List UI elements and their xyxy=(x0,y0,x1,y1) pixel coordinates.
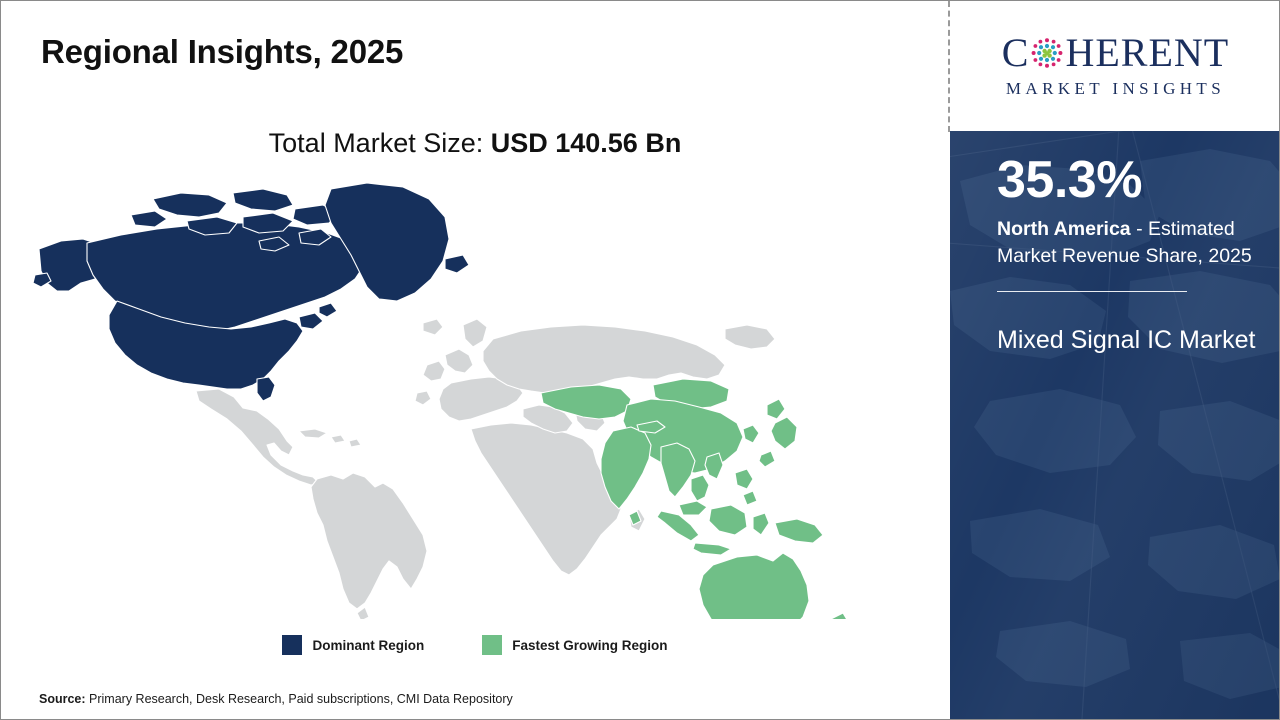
legend-swatch-fastest-growing xyxy=(482,635,502,655)
legend-item-dominant: Dominant Region xyxy=(282,635,424,655)
world-map-svg xyxy=(31,179,871,619)
total-market-size: Total Market Size: USD 140.56 Bn xyxy=(1,128,949,159)
right-sidebar: C xyxy=(950,1,1280,720)
stat-region-name: North America xyxy=(997,218,1131,240)
map-legend: Dominant Region Fastest Growing Region xyxy=(1,635,949,655)
logo-tagline: MARKET INSIGHTS xyxy=(1006,79,1225,99)
stat-panel: 35.3% North America - Estimated Market R… xyxy=(950,131,1280,720)
left-content-panel: Regional Insights, 2025 Total Market Siz… xyxy=(1,1,949,720)
map-region-dominant xyxy=(33,183,469,401)
logo-brand-pre: C xyxy=(1002,33,1030,73)
legend-label-dominant: Dominant Region xyxy=(312,638,424,653)
legend-swatch-dominant xyxy=(282,635,302,655)
source-text: Primary Research, Desk Research, Paid su… xyxy=(89,692,513,706)
stat-percent-value: 35.3% xyxy=(997,153,1265,208)
logo-wordmark: C xyxy=(1002,33,1229,73)
market-size-label: Total Market Size: xyxy=(269,128,491,158)
market-name: Mixed Signal IC Market xyxy=(997,322,1265,358)
market-size-value: USD 140.56 Bn xyxy=(491,128,682,158)
globe-icon xyxy=(1030,36,1064,70)
page-title: Regional Insights, 2025 xyxy=(41,33,403,71)
legend-label-fastest-growing: Fastest Growing Region xyxy=(512,638,667,653)
legend-item-fastest-growing: Fastest Growing Region xyxy=(482,635,667,655)
stat-divider-rule xyxy=(997,291,1187,292)
source-line: Source: Primary Research, Desk Research,… xyxy=(39,692,513,706)
regional-insights-infographic: Regional Insights, 2025 Total Market Siz… xyxy=(0,0,1280,720)
world-map xyxy=(31,179,871,619)
company-logo: C xyxy=(950,1,1280,131)
logo-brand-post: HERENT xyxy=(1065,33,1229,73)
source-label: Source: xyxy=(39,692,89,706)
stat-description: North America - Estimated Market Revenue… xyxy=(997,216,1265,271)
stat-content: 35.3% North America - Estimated Market R… xyxy=(997,153,1265,358)
